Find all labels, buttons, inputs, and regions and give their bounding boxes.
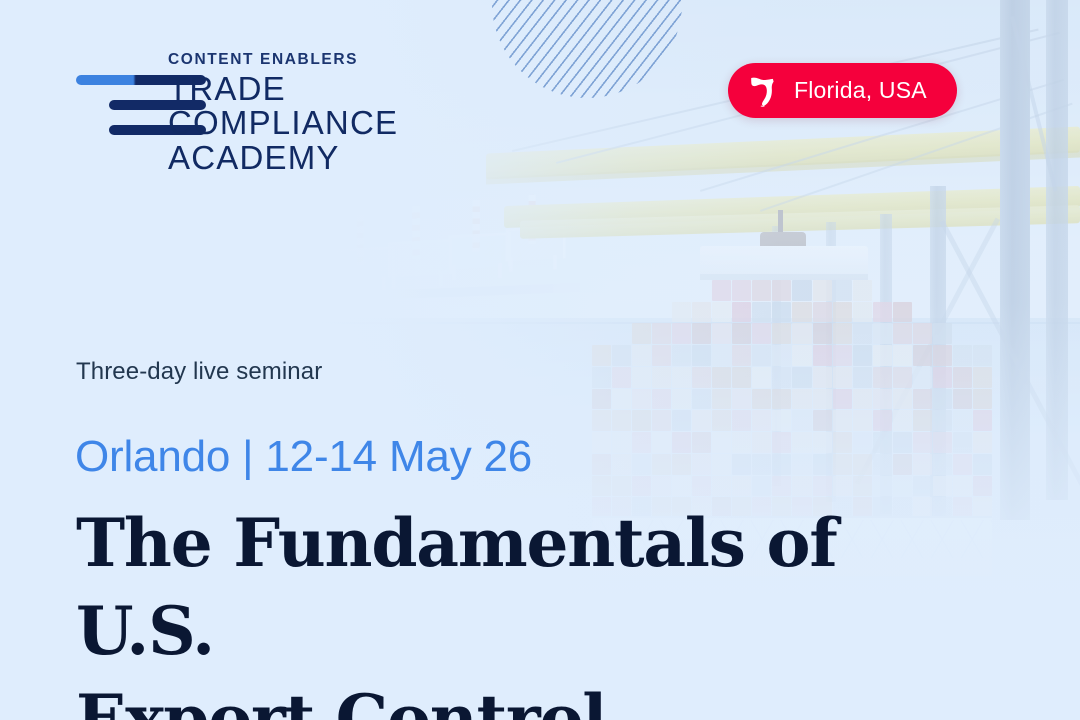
- logo-kicker: CONTENT ENABLERS: [168, 52, 476, 68]
- page-title-line-1: The Fundamentals of U.S.: [76, 500, 996, 676]
- seminar-format-label: Three-day live seminar: [76, 358, 322, 386]
- logo-line-2: ACADEMY: [168, 140, 476, 177]
- location-and-dates: Orlando | 12-14 May 26: [75, 432, 532, 482]
- logo-wordmark: CONTENT ENABLERS TRADE COMPLIANCE ACADEM…: [168, 52, 476, 177]
- location-badge[interactable]: Florida, USA: [728, 63, 957, 118]
- dotted-circle-decoration: [492, 0, 682, 98]
- location-badge-label: Florida, USA: [794, 77, 927, 104]
- page-title-line-2: Export Control Regulations: [76, 676, 996, 720]
- logo-line-1: TRADE COMPLIANCE: [168, 72, 476, 141]
- florida-map-icon: [750, 75, 780, 107]
- page-title: The Fundamentals of U.S. Export Control …: [76, 500, 996, 720]
- brand-logo: CONTENT ENABLERS TRADE COMPLIANCE ACADEM…: [76, 52, 476, 147]
- seminar-promo-banner: CONTENT ENABLERS TRADE COMPLIANCE ACADEM…: [0, 0, 1080, 720]
